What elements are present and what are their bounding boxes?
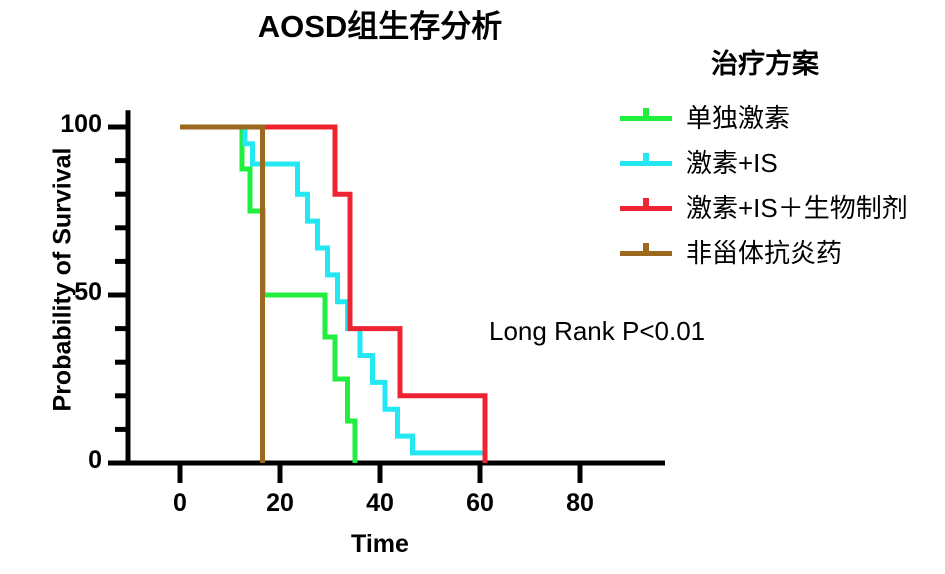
pvalue-annotation: Long Rank P<0.01 [489, 316, 705, 347]
legend-item[interactable]: 激素+IS＋生物制剂 [620, 185, 940, 230]
legend: 治疗方案 单独激素激素+IS激素+IS＋生物制剂非甾体抗炎药 [620, 42, 940, 275]
x-tick-label: 20 [245, 489, 315, 518]
legend-items: 单独激素激素+IS激素+IS＋生物制剂非甾体抗炎药 [620, 95, 940, 275]
legend-censor-tick-icon [643, 108, 649, 121]
legend-censor-tick-icon [643, 198, 649, 211]
y-tick-label: 0 [22, 446, 102, 475]
legend-item-label: 激素+IS [686, 148, 778, 178]
legend-item-label: 激素+IS＋生物制剂 [686, 193, 908, 223]
axes-group [108, 110, 665, 483]
legend-item-label: 非甾体抗炎药 [686, 238, 842, 268]
legend-censor-tick-icon [643, 153, 649, 166]
legend-color-swatch [620, 198, 672, 218]
legend-color-swatch [620, 153, 672, 173]
legend-item[interactable]: 激素+IS [620, 140, 940, 185]
legend-censor-tick-icon [643, 243, 649, 256]
x-tick-label: 60 [445, 489, 515, 518]
series-line-2 [180, 127, 485, 463]
legend-item-label: 单独激素 [686, 103, 790, 133]
x-axis-label: Time [250, 530, 510, 559]
x-tick-label: 0 [145, 489, 215, 518]
legend-title: 治疗方案 [640, 42, 890, 81]
legend-item[interactable]: 单独激素 [620, 95, 940, 140]
y-tick-label: 50 [22, 278, 102, 307]
survival-analysis-figure: AOSD组生存分析 Probability of Survival Time 0… [0, 0, 945, 574]
x-tick-label: 80 [545, 489, 615, 518]
x-tick-label: 40 [345, 489, 415, 518]
series-group [180, 127, 485, 463]
legend-color-swatch [620, 243, 672, 263]
legend-color-swatch [620, 108, 672, 128]
series-line-0 [180, 127, 355, 463]
y-tick-label: 100 [22, 110, 102, 139]
legend-item[interactable]: 非甾体抗炎药 [620, 230, 940, 275]
